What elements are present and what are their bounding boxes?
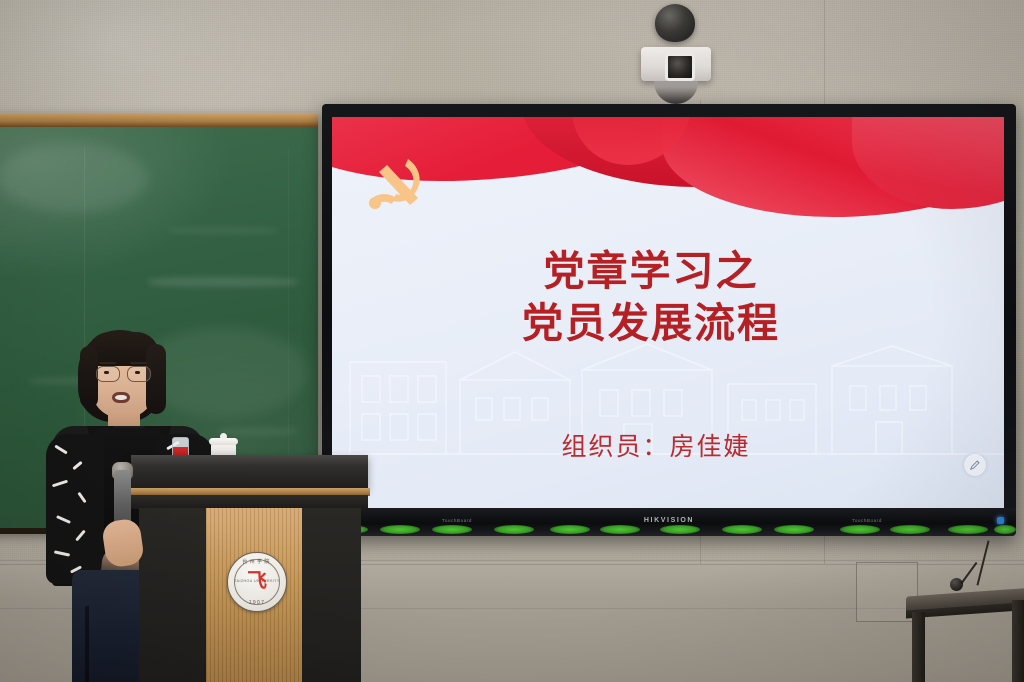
side-table-leg xyxy=(912,612,925,682)
smart-display[interactable]: 党章学习之 党员发展流程 组织员：房佳婕 TouchBoard HIKVISIO… xyxy=(322,104,1016,536)
camera-lens-icon xyxy=(665,53,695,81)
lecture-hall-scene: 党章学习之 党员发展流程 组织员：房佳婕 TouchBoard HIKVISIO… xyxy=(0,0,1024,682)
slide-title-line2: 党员发展流程 xyxy=(332,297,970,349)
mouth-inner xyxy=(115,395,127,400)
side-table-leg xyxy=(1012,600,1024,682)
slide-subtitle: 组织员：房佳婕 xyxy=(332,427,980,463)
display-screen[interactable]: 党章学习之 党员发展流程 组织员：房佳婕 xyxy=(332,117,1004,508)
university-seal: 台州学院 TAIZHOU UNIVERSITY 飞 1907 xyxy=(227,552,287,612)
chalkboard-top-trim xyxy=(0,113,318,127)
dome-camera-icon xyxy=(655,4,695,42)
display-bottom-bezel: TouchBoard HIKVISION TouchBoard xyxy=(322,508,1016,536)
display-brand-logo: HIKVISION xyxy=(644,517,694,524)
slide-title: 党章学习之 党员发展流程 xyxy=(332,245,970,350)
power-led-indicator xyxy=(997,517,1004,524)
seal-year: 1907 xyxy=(228,600,286,606)
tea-cup-knob xyxy=(220,433,227,440)
lectern-top xyxy=(131,455,368,489)
lectern-band xyxy=(131,495,368,509)
pencil-icon[interactable] xyxy=(964,454,986,476)
hammer-and-sickle-emblem xyxy=(362,153,434,219)
seal-emblem-mark: 飞 xyxy=(247,570,267,590)
sleeve-left xyxy=(46,434,104,584)
leg-seam xyxy=(85,606,89,682)
bezel-left-mark: TouchBoard xyxy=(442,518,472,523)
slide-title-line1: 党章学习之 xyxy=(544,247,759,295)
bezel-right-mark: TouchBoard xyxy=(852,518,882,523)
seal-chinese-name: 台州学院 xyxy=(228,558,286,565)
